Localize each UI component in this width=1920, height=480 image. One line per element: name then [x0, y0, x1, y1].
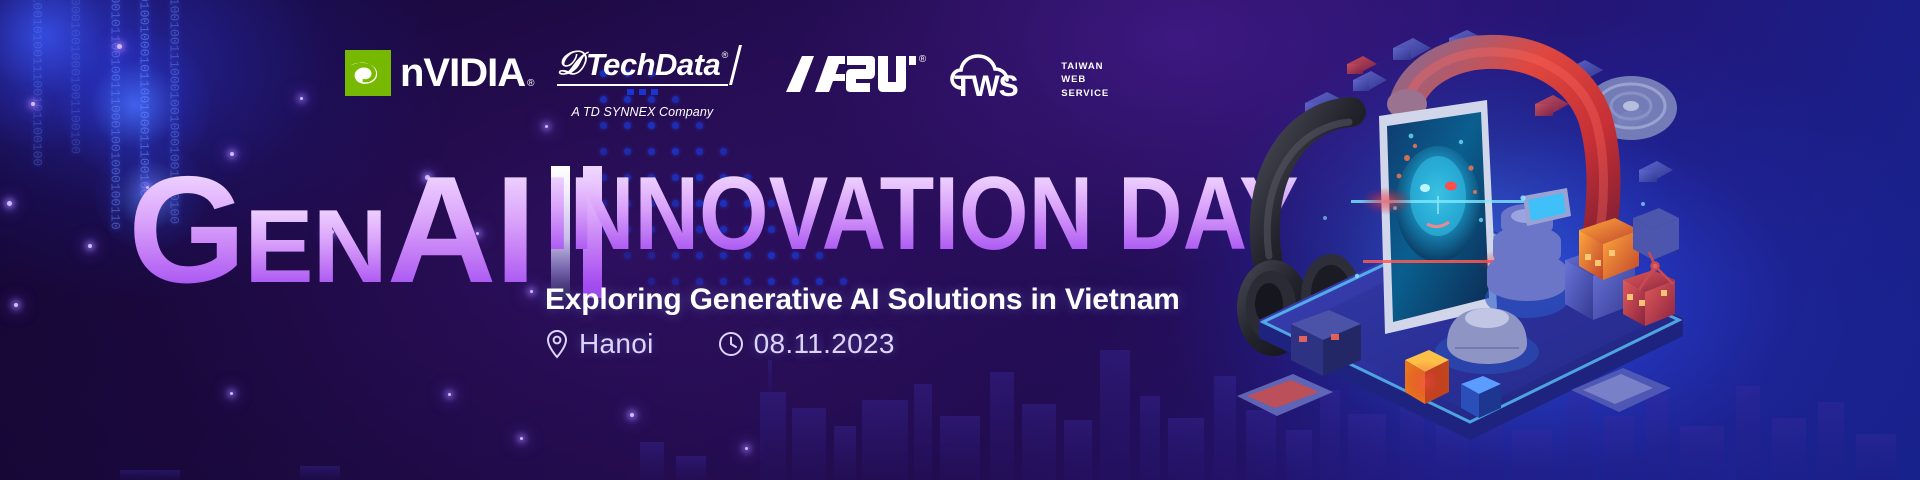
genai-letters-ai: AI — [387, 154, 535, 306]
genai-letters-en: EN — [244, 195, 386, 299]
clock-icon — [718, 331, 744, 357]
date-label: 08.11.2023 — [754, 328, 895, 360]
event-location: Hanoi — [545, 328, 654, 360]
location-label: Hanoi — [579, 328, 654, 360]
event-date: 08.11.2023 — [718, 328, 895, 360]
event-meta-row: Hanoi 08.11.2023 — [545, 328, 895, 360]
genai-letter-g: G — [128, 154, 244, 306]
map-pin-icon — [545, 329, 569, 359]
innovation-day-title: INNOVATION DAY — [545, 162, 1299, 266]
genai-innovation-day-banner: 01001011001001110001001000100110 1011001… — [0, 0, 1920, 480]
genai-logotype: G EN AI — [128, 154, 602, 306]
event-subtitle: Exploring Generative AI Solutions in Vie… — [545, 283, 1180, 317]
ai-isometric-tech-city-illustration — [1235, 8, 1705, 468]
